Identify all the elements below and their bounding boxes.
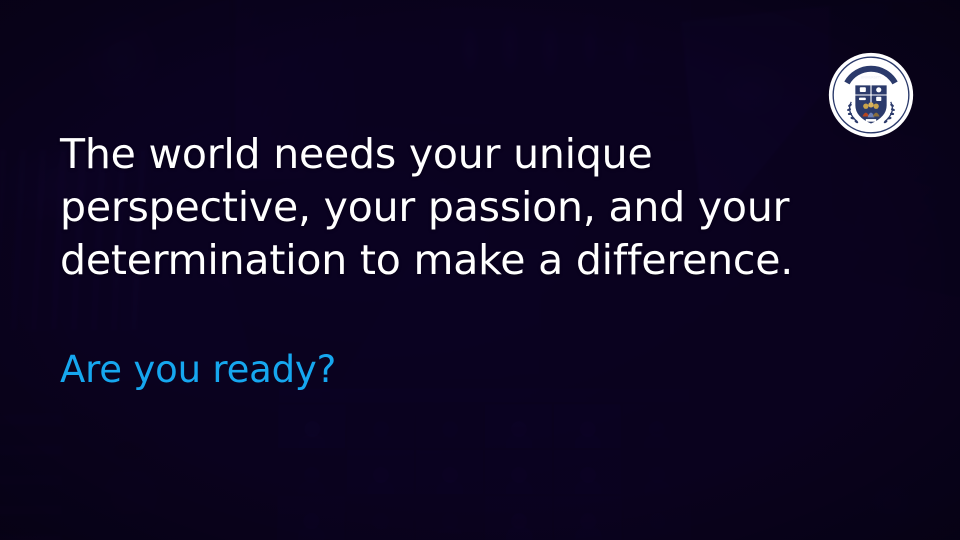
headline-text: The world needs your unique perspective,…: [60, 128, 870, 287]
university-crest-logo: UNIVERSITY: [828, 52, 914, 138]
call-to-action-text: Are you ready?: [60, 348, 336, 392]
slide-content: The world needs your unique perspective,…: [0, 0, 960, 540]
presentation-slide: The world needs your unique perspective,…: [0, 0, 960, 540]
svg-text:UNIVERSITY: UNIVERSITY: [861, 76, 882, 80]
